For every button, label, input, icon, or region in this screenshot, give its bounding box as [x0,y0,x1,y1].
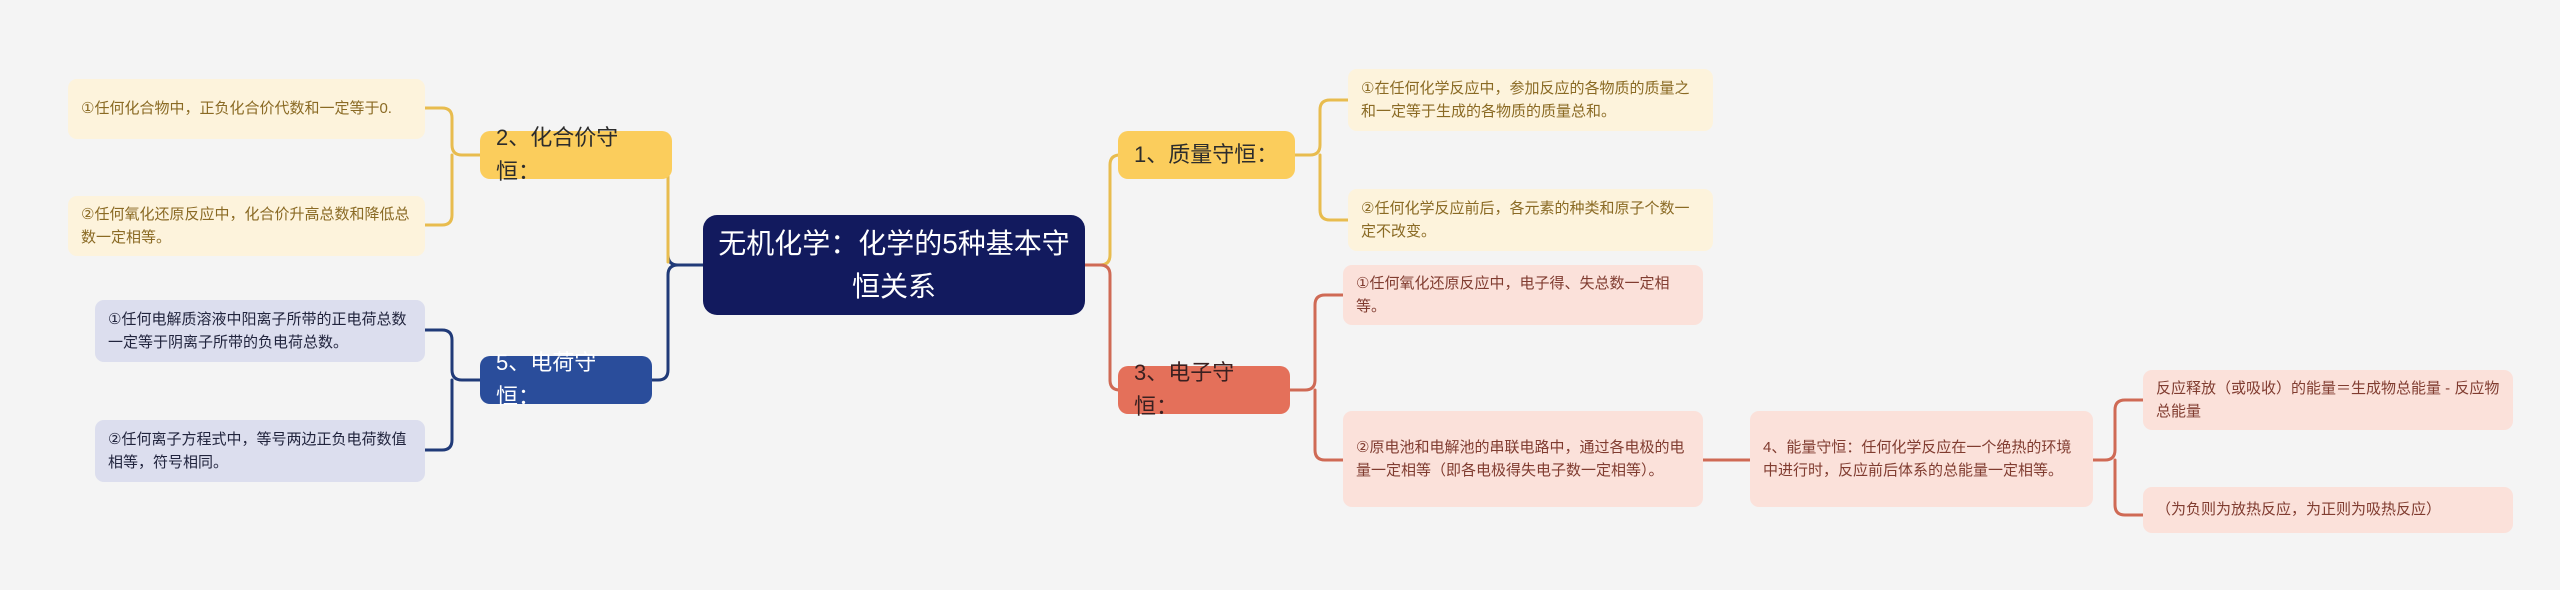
leaf-energy-2-text: （为负则为放热反应，为正则为吸热反应） [2156,498,2441,521]
leaf-electron-2-text: ②原电池和电解池的串联电路中，通过各电极的电量一定相等（即各电极得失电子数一定相… [1356,436,1690,483]
wire-energy-leaves [2093,400,2143,460]
leaf-charge-2[interactable]: ②任何离子方程式中，等号两边正负电荷数值相等，符号相同。 [95,420,425,482]
leaf-mass-2[interactable]: ②任何化学反应前后，各元素的种类和原子个数一定不改变。 [1348,189,1713,251]
leaf-electron-1-text: ①任何氧化还原反应中，电子得、失总数一定相等。 [1356,272,1690,319]
wire-electron-leaves-2 [1315,390,1343,460]
leaf-energy-1-text: 反应释放（或吸收）的能量＝生成物总能量 - 反应物总能量 [2156,377,2500,424]
leaf-electron-1[interactable]: ①任何氧化还原反应中，电子得、失总数一定相等。 [1343,265,1703,325]
leaf-valence-2-text: ②任何氧化还原反应中，化合价升高总数和降低总数一定相等。 [81,203,412,250]
branch-chip-electron-label: 3、电子守恒： [1134,356,1274,424]
wire-mass-leaves-2 [1320,155,1348,220]
leaf-mass-1[interactable]: ①在任何化学反应中，参加反应的各物质的质量之和一定等于生成的各物质的质量总和。 [1348,69,1713,131]
wire-valence-leaves-2 [425,155,452,225]
leaf-charge-1[interactable]: ①任何电解质溶液中阳离子所带的正电荷总数一定等于阴离子所带的负电荷总数。 [95,300,425,362]
branch-chip-charge-label: 5、电荷守恒： [496,346,636,414]
branch-chip-mass[interactable]: 1、质量守恒： [1118,131,1295,179]
leaf-mass-1-text: ①在任何化学反应中，参加反应的各物质的质量之和一定等于生成的各物质的质量总和。 [1361,77,1700,124]
leaf-energy-1[interactable]: 反应释放（或吸收）的能量＝生成物总能量 - 反应物总能量 [2143,370,2513,430]
wire-mass-leaves [1295,100,1348,155]
leaf-valence-2[interactable]: ②任何氧化还原反应中，化合价升高总数和降低总数一定相等。 [68,196,425,256]
leaf-energy-2[interactable]: （为负则为放热反应，为正则为吸热反应） [2143,487,2513,533]
branch-node-energy-label: 4、能量守恒：任何化学反应在一个绝热的环境中进行时，反应前后体系的总能量一定相等… [1763,436,2080,483]
leaf-electron-2[interactable]: ②原电池和电解池的串联电路中，通过各电极的电量一定相等（即各电极得失电子数一定相… [1343,411,1703,507]
leaf-valence-1[interactable]: ①任何化合物中，正负化合价代数和一定等于0. [68,79,425,139]
root-node[interactable]: 无机化学：化学的5种基本守恒关系 [703,215,1085,315]
branch-node-energy[interactable]: 4、能量守恒：任何化学反应在一个绝热的环境中进行时，反应前后体系的总能量一定相等… [1750,411,2093,507]
branch-chip-valence-label: 2、化合价守恒： [496,121,656,189]
branch-chip-electron[interactable]: 3、电子守恒： [1118,366,1290,414]
wire-charge-leaves-2 [425,380,452,450]
branch-chip-valence[interactable]: 2、化合价守恒： [480,131,672,179]
leaf-charge-2-text: ②任何离子方程式中，等号两边正负电荷数值相等，符号相同。 [108,428,412,475]
root-title: 无机化学：化学的5种基本守恒关系 [717,222,1071,309]
wire-charge-leaves [425,330,480,380]
mindmap-canvas: 无机化学：化学的5种基本守恒关系 2、化合价守恒： ①任何化合物中，正负化合价代… [0,0,2560,590]
wire-electron-leaves [1290,295,1343,390]
branch-chip-mass-label: 1、质量守恒： [1134,138,1278,172]
leaf-valence-1-text: ①任何化合物中，正负化合价代数和一定等于0. [81,97,392,120]
branch-chip-charge[interactable]: 5、电荷守恒： [480,356,652,404]
wire-energy-leaves-2 [2115,460,2143,515]
wire-valence-leaves [425,108,480,155]
leaf-charge-1-text: ①任何电解质溶液中阳离子所带的正电荷总数一定等于阴离子所带的负电荷总数。 [108,308,412,355]
leaf-mass-2-text: ②任何化学反应前后，各元素的种类和原子个数一定不改变。 [1361,197,1700,244]
